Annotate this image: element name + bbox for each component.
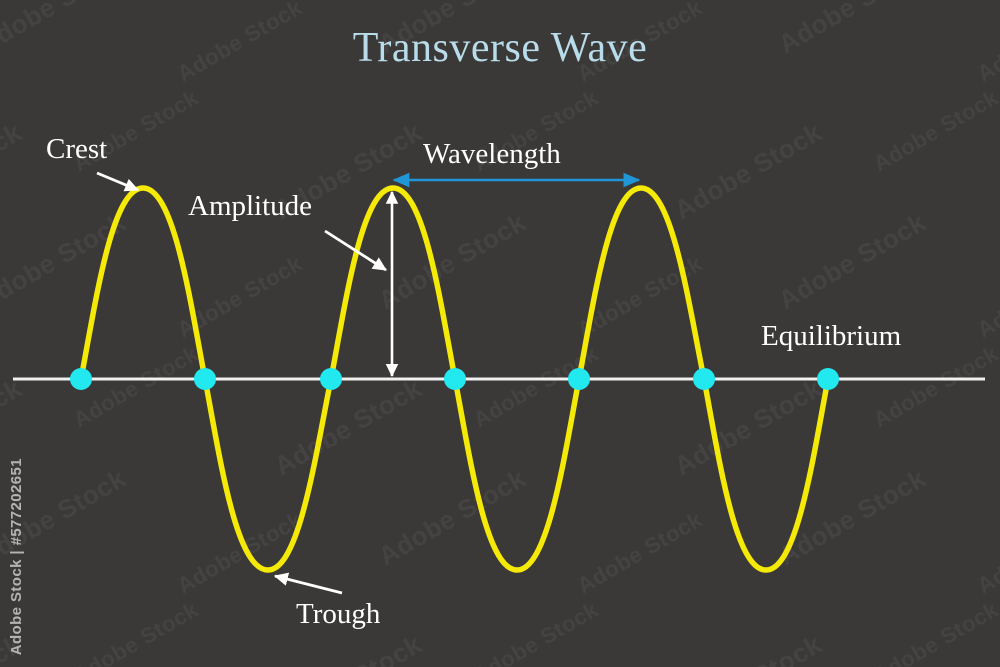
stock-credit-text: Adobe Stock | #577202651 — [8, 458, 25, 655]
node-dot — [70, 368, 92, 390]
node-dot — [320, 368, 342, 390]
trough-pointer-arrow — [275, 576, 342, 593]
crest-label: Crest — [46, 133, 107, 166]
node-dot — [693, 368, 715, 390]
node-dot — [194, 368, 216, 390]
node-dot — [817, 368, 839, 390]
page-title: Transverse Wave — [0, 24, 1000, 72]
trough-label: Trough — [296, 598, 380, 631]
node-dot — [568, 368, 590, 390]
wave-diagram-canvas: Adobe StockAdobe StockAdobe StockAdobe S… — [0, 0, 1000, 667]
equilibrium-label: Equilibrium — [761, 320, 901, 353]
wavelength-label: Wavelength — [423, 138, 561, 171]
crest-pointer-arrow — [97, 173, 138, 190]
node-dot — [444, 368, 466, 390]
amplitude-label: Amplitude — [188, 190, 312, 223]
